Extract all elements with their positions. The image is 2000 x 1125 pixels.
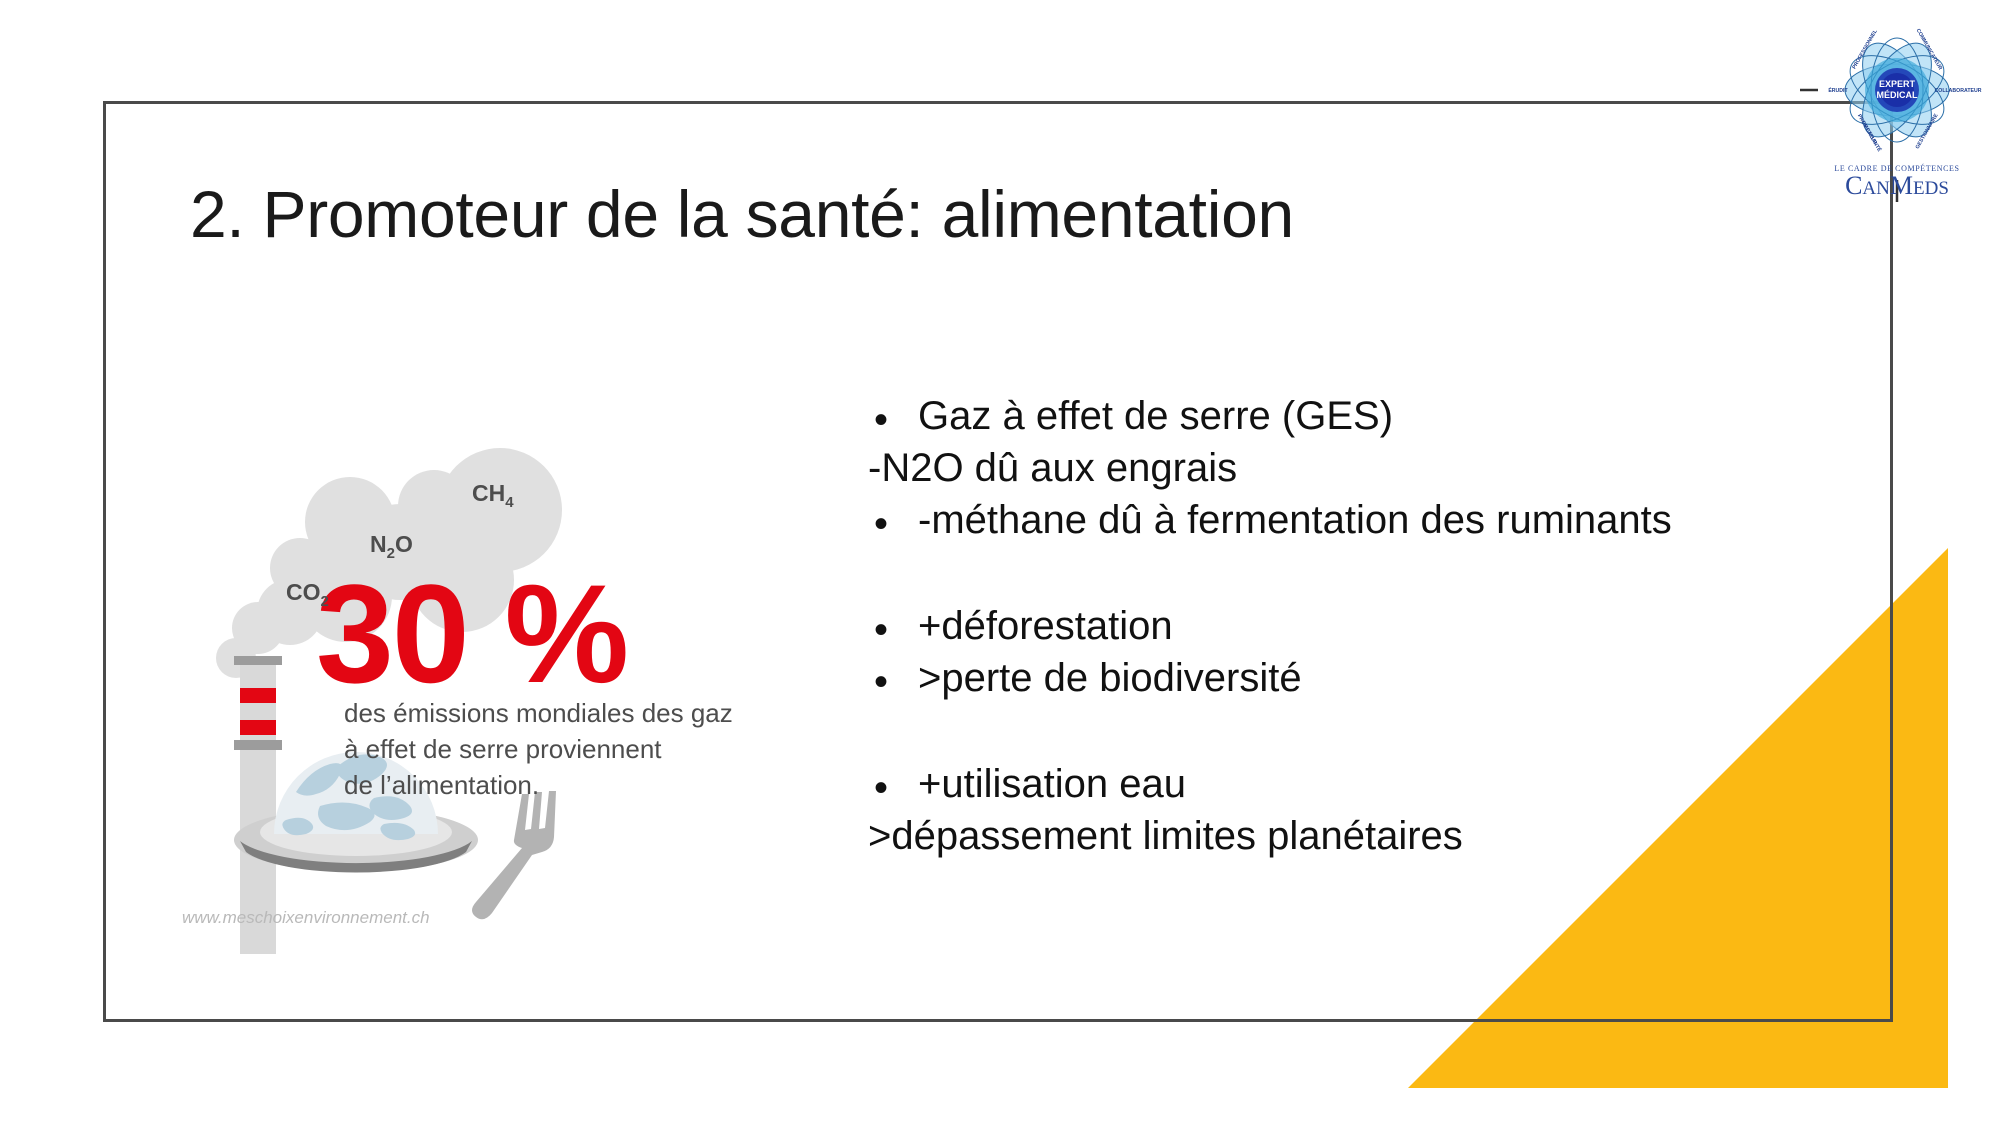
bullet-text: >perte de biodiversité — [918, 652, 1878, 704]
infographic-caption-line1: des émissions mondiales des gaz — [344, 698, 733, 728]
logo-center-line2: MÉDICAL — [1877, 90, 1918, 100]
list-item: • >perte de biodiversité — [868, 652, 1878, 704]
list-item: • -méthane dû à fermentation des ruminan… — [868, 494, 1878, 546]
bullet-text: -méthane dû à fermentation des ruminants — [918, 494, 1878, 546]
bullet-text: +déforestation — [918, 600, 1878, 652]
list-item: • +utilisation eau >dépassement limites … — [868, 758, 1878, 862]
bullet-continuation-text: -N2O dû aux engrais — [868, 442, 1878, 494]
logo-center-line1: EXPERT — [1879, 79, 1916, 89]
bullet-list: • Gaz à effet de serre (GES) -N2O dû aux… — [868, 390, 1878, 862]
infographic-source-url: www.meschoixenvironnement.ch — [182, 908, 430, 928]
infographic-caption-line3: de l’alimentation. — [344, 770, 539, 800]
canmeds-logo: EXPERT MÉDICAL ÉRUDIT COLLABORATEUR PROF… — [1800, 2, 1995, 202]
bullet-dot-icon: • — [874, 604, 888, 656]
logo-petal-collaborateur: COLLABORATEUR — [1935, 88, 1982, 94]
fork-icon — [472, 791, 556, 919]
infographic-caption-line2: à effet de serre proviennent — [344, 734, 662, 764]
bullet-dot-icon: • — [874, 394, 888, 446]
bullet-text: +utilisation eau — [918, 758, 1878, 810]
headline-percentage: 30 % — [316, 555, 627, 712]
bullet-continuation-text: >dépassement limites planétaires — [868, 810, 1878, 862]
list-item: • Gaz à effet de serre (GES) -N2O dû aux… — [868, 390, 1878, 494]
page-title: 2. Promoteur de la santé: alimentation — [190, 178, 1590, 252]
bullet-dot-icon: • — [874, 498, 888, 550]
bullet-text: Gaz à effet de serre (GES) — [918, 390, 1878, 442]
list-spacer — [868, 704, 1878, 758]
bullet-dot-icon: • — [874, 656, 888, 708]
logo-petal-erudit: ÉRUDIT — [1828, 86, 1848, 94]
presentation-slide: 2. Promoteur de la santé: alimentation •… — [0, 0, 2000, 1125]
bullet-dot-icon: • — [874, 762, 888, 814]
list-spacer — [868, 546, 1878, 600]
list-item: • +déforestation — [868, 600, 1878, 652]
logo-wordmark: CANMEDS — [1845, 171, 1949, 200]
emissions-infographic-image: 30 % CH4 N2O CO2 des émissions mondiales… — [178, 400, 838, 960]
